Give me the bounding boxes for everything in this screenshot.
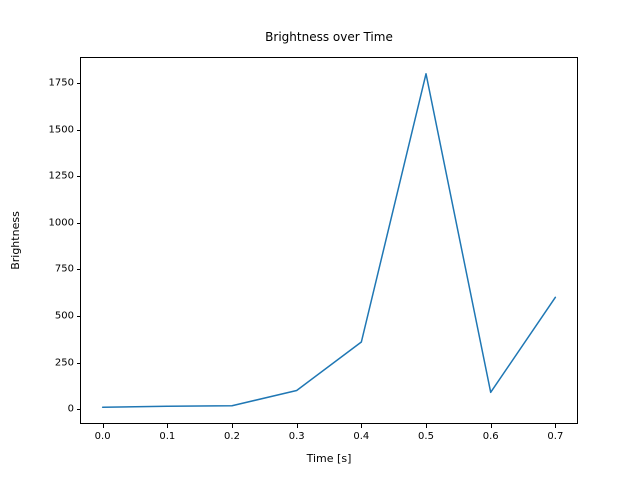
x-tick-mark: [361, 424, 362, 428]
x-axis-label: Time [s]: [80, 452, 578, 465]
x-tick-label: 0.5: [418, 431, 434, 442]
y-tick-label: 500: [34, 310, 74, 321]
y-axis-label: Brightness: [8, 57, 22, 424]
x-tick-mark: [232, 424, 233, 428]
x-tick-label: 0.0: [95, 431, 111, 442]
chart-title-text: Brightness over Time: [265, 30, 393, 44]
x-tick-label: 0.4: [353, 431, 369, 442]
y-tick-mark: [77, 83, 81, 84]
chart-title: Brightness over Time: [0, 30, 640, 44]
x-tick-label: 0.3: [289, 431, 305, 442]
y-tick-mark: [77, 363, 81, 364]
y-tick-label: 1000: [34, 217, 74, 228]
data-series-line: [103, 74, 556, 407]
y-tick-label: 1250: [34, 171, 74, 182]
y-tick-mark: [77, 176, 81, 177]
x-tick-mark: [297, 424, 298, 428]
y-tick-label: 0: [34, 404, 74, 415]
x-tick-label: 0.2: [224, 431, 240, 442]
y-tick-mark: [77, 316, 81, 317]
x-tick-label: 0.6: [483, 431, 499, 442]
y-tick-mark: [77, 130, 81, 131]
x-tick-mark: [167, 424, 168, 428]
y-tick-mark: [77, 269, 81, 270]
plot-canvas: [80, 57, 578, 424]
y-tick-label: 1750: [34, 78, 74, 89]
x-tick-label: 0.7: [547, 431, 563, 442]
x-tick-mark: [426, 424, 427, 428]
y-tick-label: 750: [34, 264, 74, 275]
y-tick-mark: [77, 409, 81, 410]
y-tick-mark: [77, 223, 81, 224]
matplotlib-figure: Brightness over Time Brightness Time [s]…: [0, 0, 640, 480]
x-tick-mark: [103, 424, 104, 428]
x-axis-label-text: Time [s]: [307, 452, 352, 465]
y-tick-label: 1500: [34, 124, 74, 135]
x-tick-label: 0.1: [159, 431, 175, 442]
y-axis-label-text: Brightness: [9, 211, 22, 270]
y-tick-label: 250: [34, 357, 74, 368]
x-tick-mark: [491, 424, 492, 428]
x-tick-mark: [555, 424, 556, 428]
